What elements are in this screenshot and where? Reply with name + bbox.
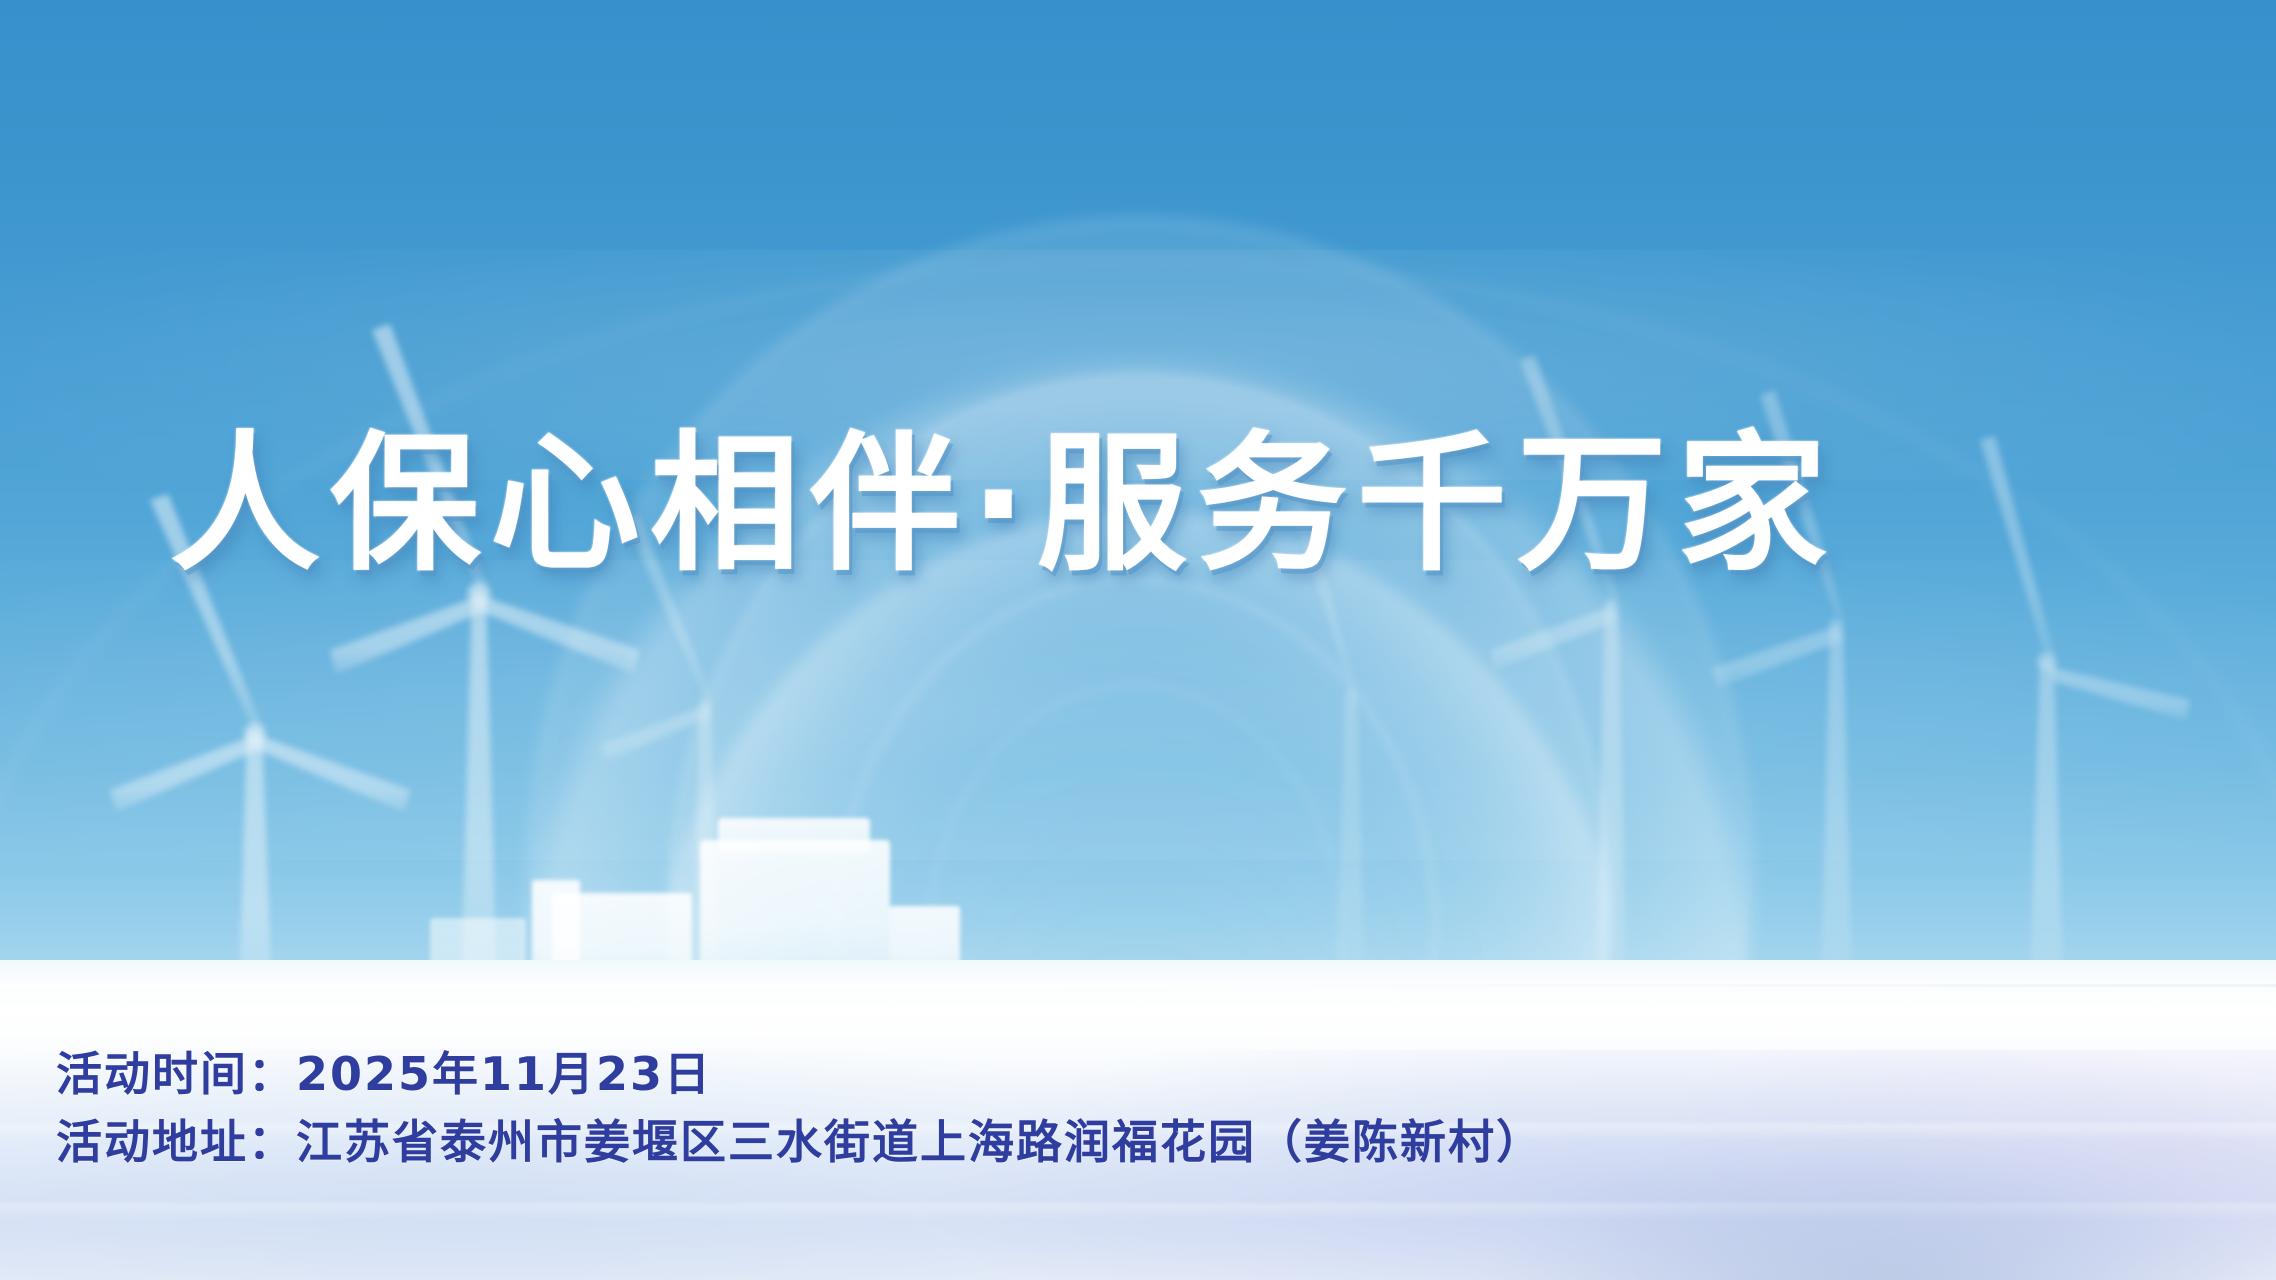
page-title: 人保心相伴·服务千万家: [170, 430, 2130, 580]
event-info-block: 活动时间：2025年11月23日 活动地址：江苏省泰州市姜堰区三水街道上海路润福…: [56, 1040, 2156, 1176]
horizon-line: [0, 984, 2276, 987]
event-address-line: 活动地址：江苏省泰州市姜堰区三水街道上海路润福花园（姜陈新村）: [56, 1108, 2156, 1176]
banner-poster: 人保心相伴·服务千万家 活动时间：2025年11月23日 活动地址：江苏省泰州市…: [0, 0, 2276, 1280]
event-time-line: 活动时间：2025年11月23日: [56, 1040, 2156, 1108]
